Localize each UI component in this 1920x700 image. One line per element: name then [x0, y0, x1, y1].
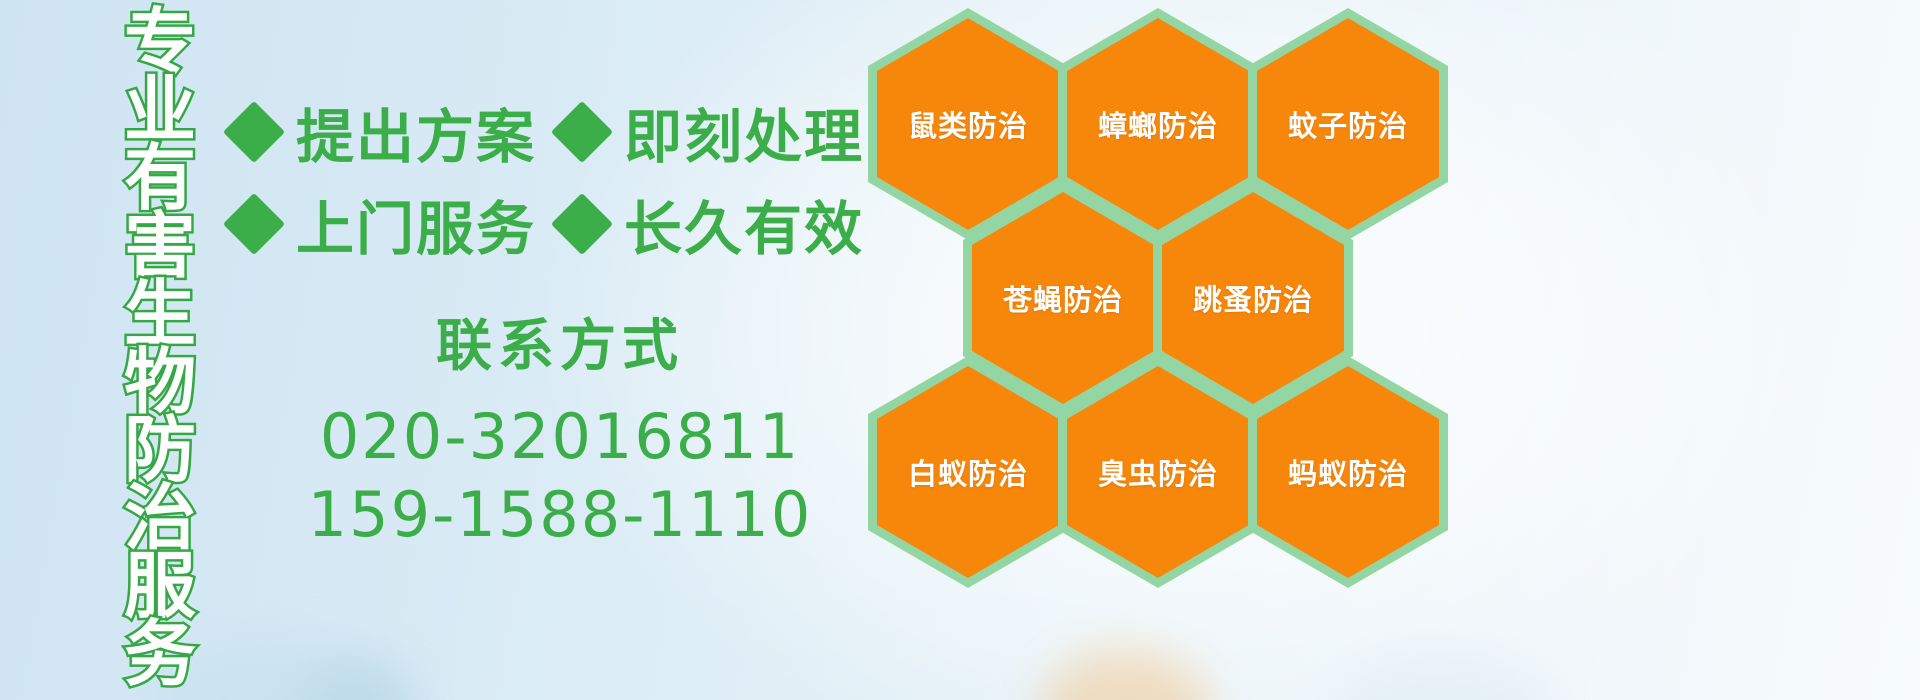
- promo-banner: 专业有害生物防治服务 提出方案 即刻处理 上门服务 长久有效 联系方式: [0, 0, 1920, 700]
- contact-title: 联系方式: [300, 312, 820, 382]
- vertical-headline-char: 服: [124, 552, 196, 620]
- bullet-row: 上门服务 长久有效: [232, 178, 872, 270]
- bullet-item: 即刻处理: [560, 90, 864, 174]
- diamond-bullet-icon: [223, 193, 285, 255]
- vertical-headline-char: 业: [124, 76, 196, 144]
- vertical-headline-char: 防: [124, 416, 196, 484]
- bullet-label: 长久有效: [624, 182, 864, 266]
- vertical-headline-char: 物: [124, 348, 196, 416]
- bullet-item: 提出方案: [232, 90, 536, 174]
- hex-label: 白蚁防治: [908, 451, 1028, 493]
- background-bokeh-blob: [300, 660, 420, 700]
- vertical-headline-char: 害: [124, 212, 196, 280]
- vertical-headline-char: 务: [124, 620, 196, 688]
- bullet-item: 长久有效: [560, 182, 864, 266]
- hex-label: 蟑螂防治: [1098, 103, 1218, 145]
- hex-label: 苍蝇防治: [1003, 277, 1123, 319]
- diamond-bullet-icon: [551, 193, 613, 255]
- hex-label: 蚊子防治: [1288, 103, 1408, 145]
- phone-number-mobile[interactable]: 159-1588-1110: [300, 476, 820, 554]
- hex-label: 跳蚤防治: [1193, 277, 1313, 319]
- phone-number-landline[interactable]: 020-32016811: [300, 398, 820, 476]
- bullet-label: 提出方案: [296, 90, 536, 174]
- hex-label: 臭虫防治: [1098, 451, 1218, 493]
- diamond-bullet-icon: [551, 101, 613, 163]
- vertical-headline-char: 有: [124, 144, 196, 212]
- vertical-headline-char: 治: [124, 484, 196, 552]
- hex-label: 鼠类防治: [908, 103, 1028, 145]
- diamond-bullet-icon: [223, 101, 285, 163]
- service-honeycomb: 鼠类防治 蟑螂防治 蚊子防治 苍蝇防治 跳蚤防治 白蚁防治 臭虫防治 蚂蚁防治: [860, 0, 1460, 700]
- contact-block: 联系方式 020-32016811 159-1588-1110: [300, 312, 820, 554]
- vertical-headline: 专业有害生物防治服务: [108, 8, 212, 568]
- hex-label: 蚂蚁防治: [1288, 451, 1408, 493]
- bullet-label: 即刻处理: [624, 90, 864, 174]
- vertical-headline-char: 生: [124, 280, 196, 348]
- bullet-item: 上门服务: [232, 182, 536, 266]
- bullet-row: 提出方案 即刻处理: [232, 86, 872, 178]
- vertical-headline-char: 专: [124, 8, 196, 76]
- bullet-label: 上门服务: [296, 182, 536, 266]
- feature-bullet-list: 提出方案 即刻处理 上门服务 长久有效: [232, 86, 872, 270]
